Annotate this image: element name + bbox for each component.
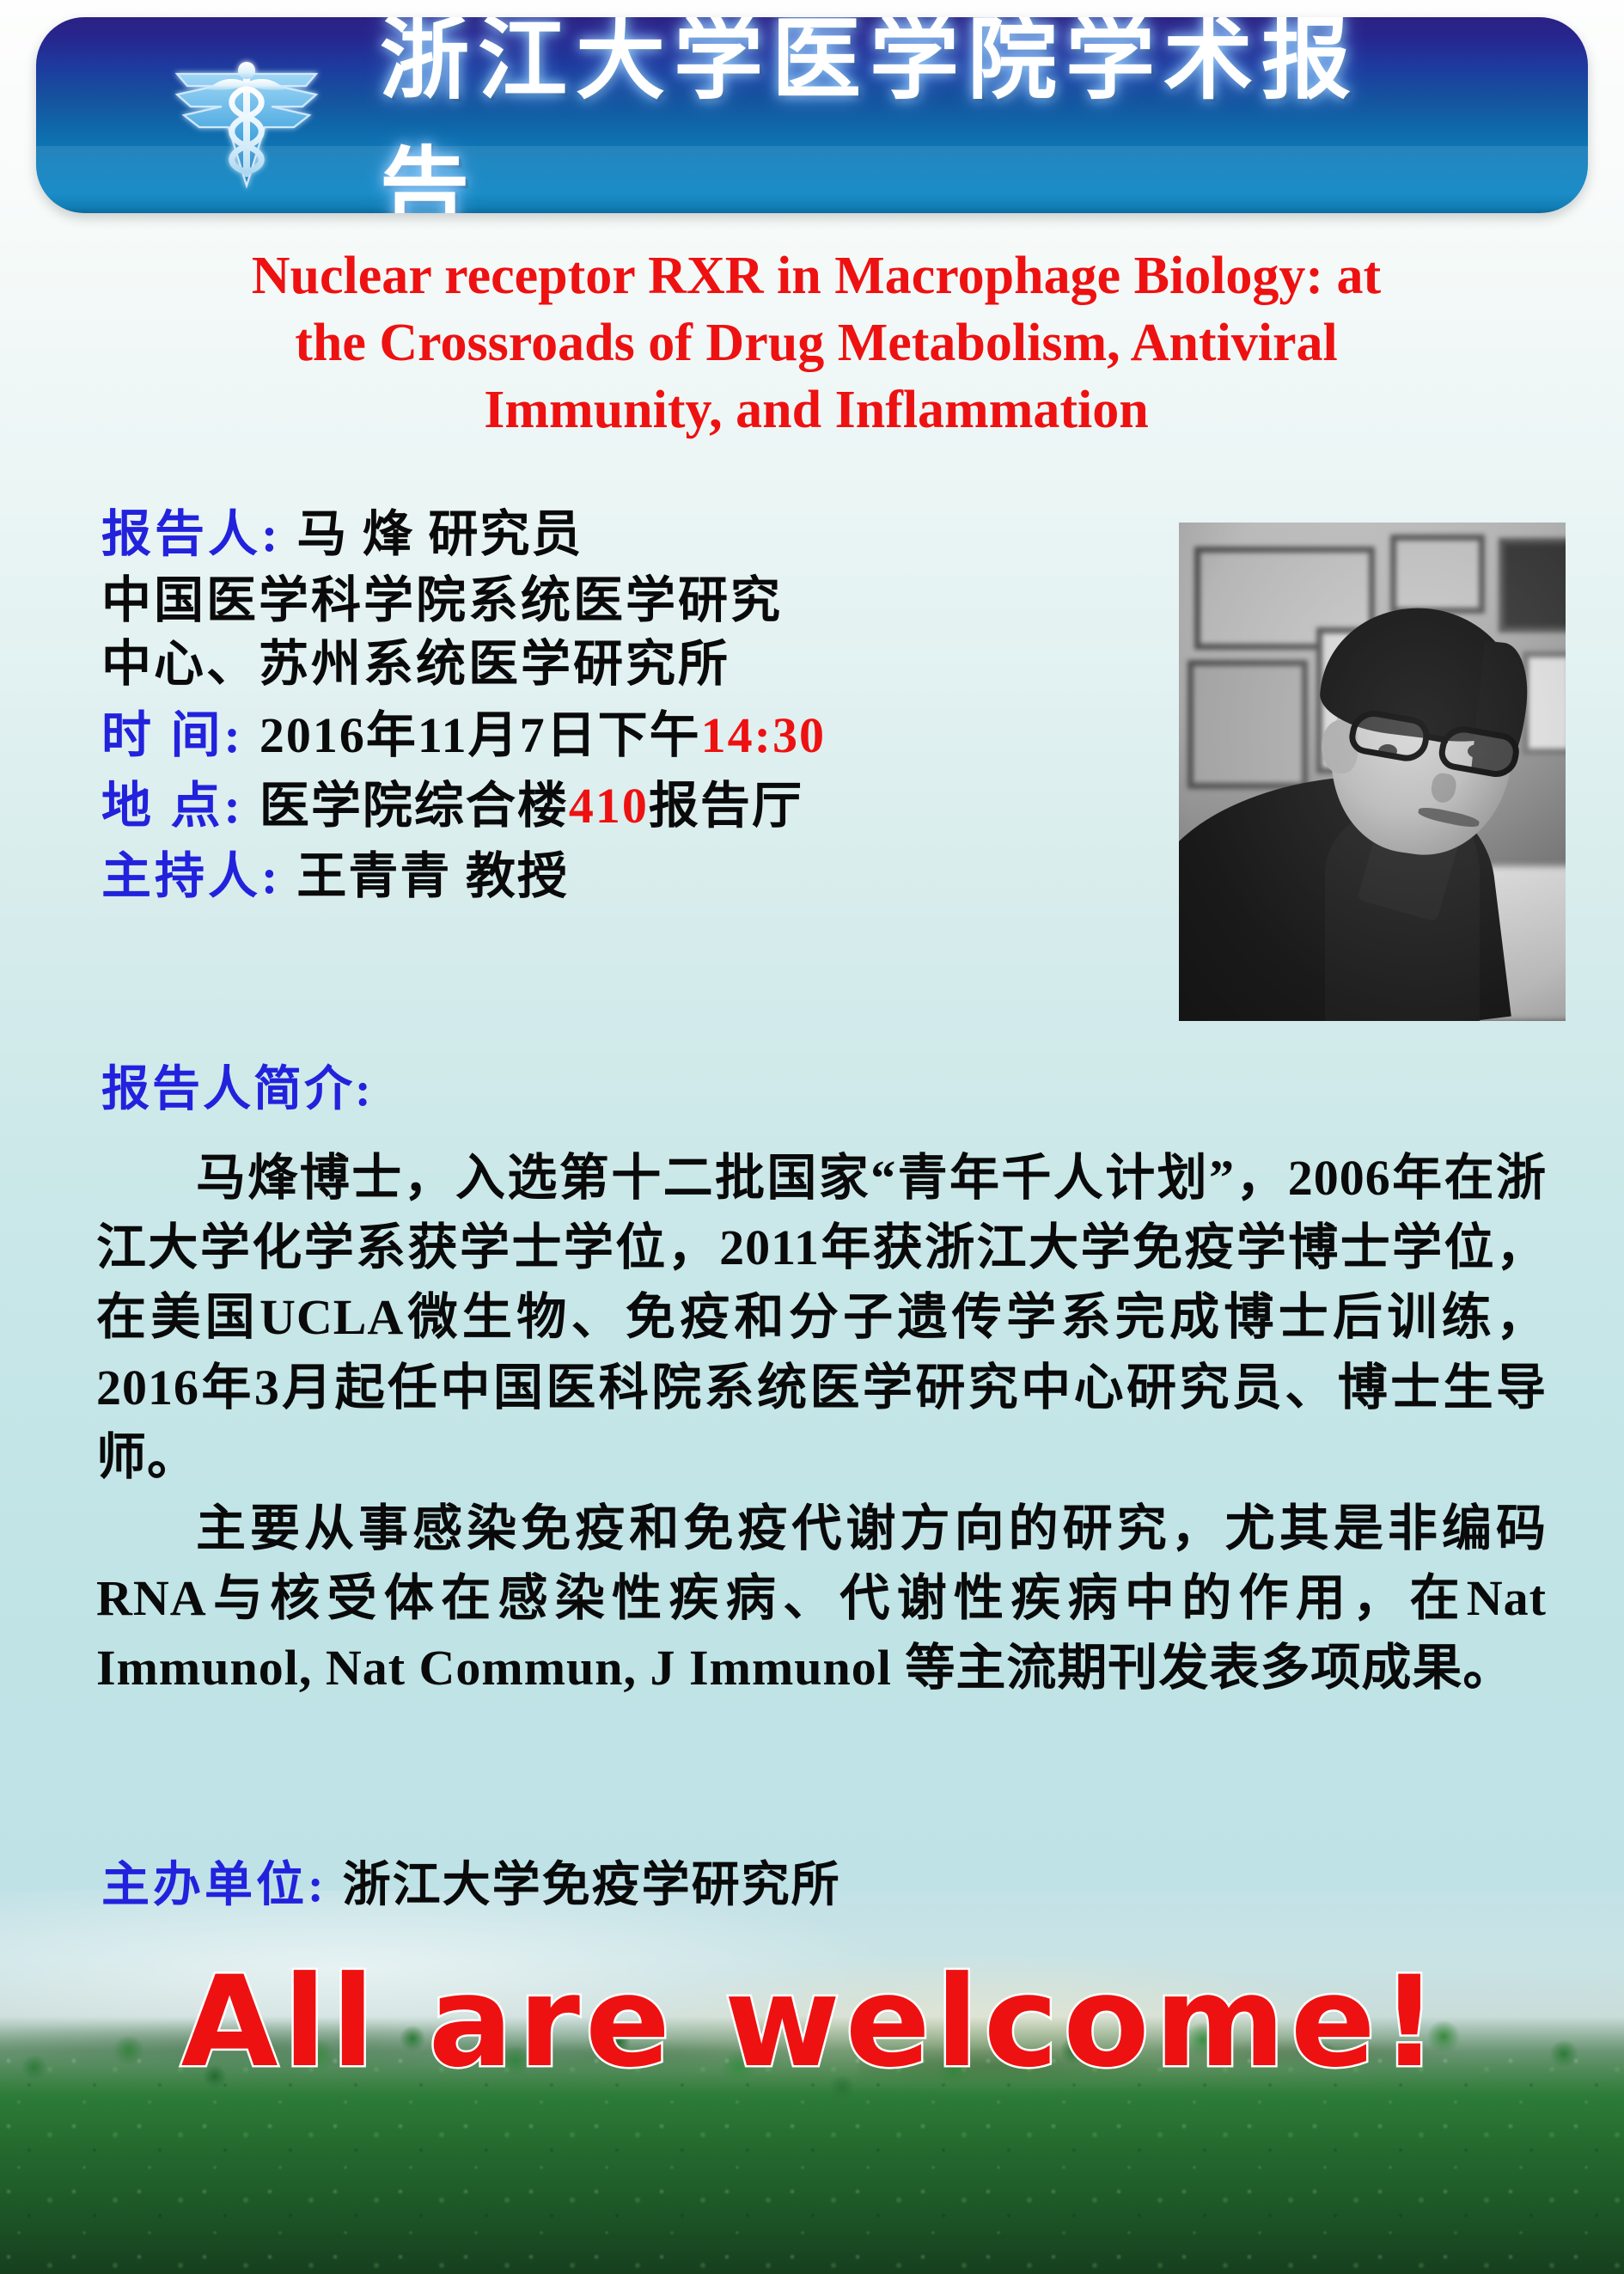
- speaker-name: 马 烽 研究员: [296, 504, 583, 565]
- time-value-highlight: 14:30: [701, 707, 826, 763]
- place-label: 地 点:: [101, 775, 244, 837]
- place-value-highlight: 410: [569, 778, 649, 834]
- banner-title: 浙江大学医学院学术报告: [380, 40, 1437, 193]
- time-value-text: 2016年11月7日下午: [259, 707, 701, 763]
- host-label: 主持人:: [101, 846, 281, 908]
- time-value: 2016年11月7日下午14:30: [259, 705, 826, 767]
- portrait-vignette: [1179, 523, 1566, 1021]
- welcome-message: All are welcome!: [0, 1949, 1624, 2095]
- place-value-prefix: 医学院综合楼: [259, 778, 569, 834]
- info-row-time: 时 间: 2016年11月7日下午14:30: [101, 705, 1158, 767]
- title-line-3: Immunity, and Inflammation: [95, 376, 1538, 443]
- place-value: 医学院综合楼410报告厅: [259, 775, 803, 837]
- organizer-row: 主办单位: 浙江大学免疫学研究所: [101, 1846, 841, 1916]
- organizer-label: 主办单位:: [101, 1846, 327, 1916]
- info-row-place: 地 点: 医学院综合楼410报告厅: [101, 775, 1158, 837]
- info-row-host: 主持人: 王青青 教授: [101, 846, 1158, 908]
- bio-paragraph-2: 主要从事感染免疫和免疫代谢方向的研究，尤其是非编码RNA与核受体在感染性疾病、代…: [96, 1494, 1547, 1703]
- title-line-1: Nuclear receptor RXR in Macrophage Biolo…: [95, 242, 1538, 309]
- organizer-value: 浙江大学免疫学研究所: [343, 1846, 841, 1916]
- time-label: 时 间:: [101, 705, 244, 767]
- bio-paragraph-1: 马烽博士，入选第十二批国家“青年千人计划”，2006年在浙江大学化学系获学士学位…: [96, 1143, 1547, 1492]
- caduceus-winged-emblem-icon: [165, 41, 328, 192]
- event-info-block: 报告人: 马 烽 研究员 中国医学科学院系统医学研究 中心、苏州系统医学研究所 …: [101, 504, 1158, 911]
- bio-heading: 报告人简介:: [101, 1050, 374, 1120]
- affiliation-line-1: 中国医学科学院系统医学研究: [101, 569, 1158, 633]
- speaker-label: 报告人:: [101, 504, 281, 565]
- speaker-portrait-photo: [1179, 523, 1566, 1021]
- poster-canvas: 浙江大学医学院学术报告 Nuclear receptor RXR in Macr…: [0, 0, 1624, 2274]
- place-value-suffix: 报告厅: [649, 778, 803, 834]
- header-banner: 浙江大学医学院学术报告: [36, 17, 1588, 213]
- bio-body: 马烽博士，入选第十二批国家“青年千人计划”，2006年在浙江大学化学系获学士学位…: [96, 1143, 1547, 1703]
- title-line-2: the Crossroads of Drug Metabolism, Antiv…: [95, 309, 1538, 376]
- page-title: Nuclear receptor RXR in Macrophage Biolo…: [95, 242, 1538, 443]
- info-row-speaker: 报告人: 马 烽 研究员: [101, 504, 1158, 565]
- affiliation-line-2: 中心、苏州系统医学研究所: [101, 633, 1158, 696]
- host-value: 王青青 教授: [296, 846, 569, 908]
